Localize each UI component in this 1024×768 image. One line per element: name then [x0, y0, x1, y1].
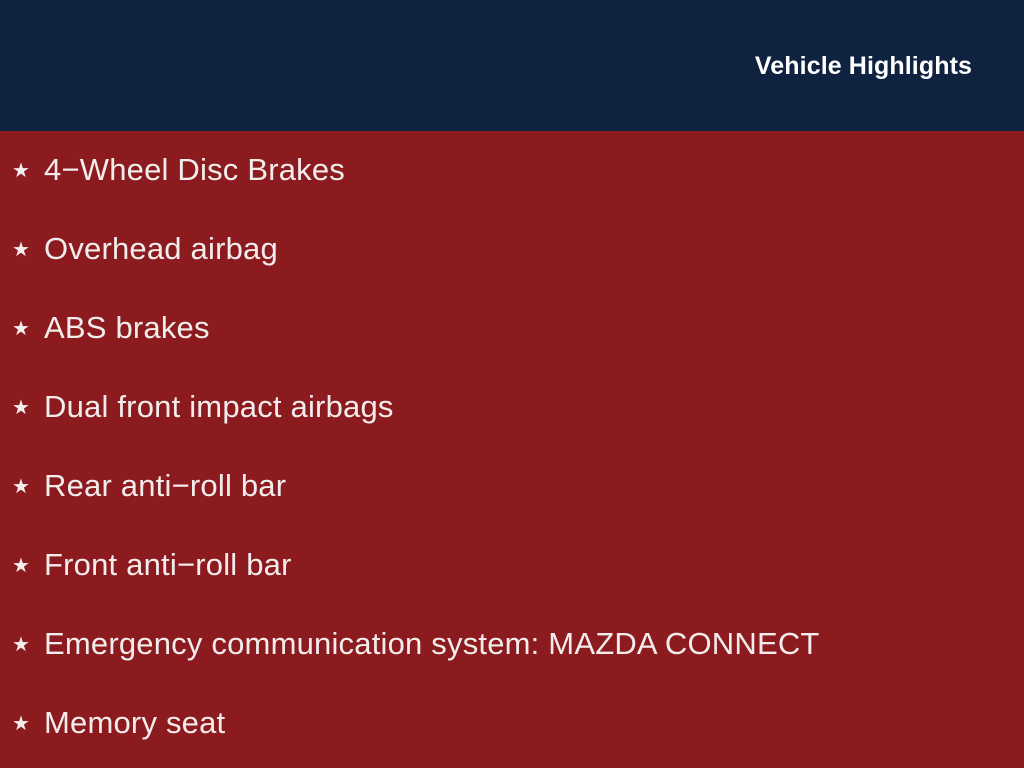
highlight-label: Overhead airbag [44, 232, 278, 266]
star-bullet-icon: ★ [12, 714, 44, 734]
slide-body: ★ 4−Wheel Disc Brakes ★ Overhead airbag … [0, 131, 1024, 768]
list-item: ★ ABS brakes [0, 289, 1024, 368]
list-item: ★ Overhead airbag [0, 210, 1024, 289]
highlight-label: Dual front impact airbags [44, 390, 394, 424]
list-item: ★ Rear anti−roll bar [0, 447, 1024, 526]
vehicle-highlights-slide: Vehicle Highlights ★ 4−Wheel Disc Brakes… [0, 0, 1024, 768]
highlight-label: ABS brakes [44, 311, 210, 345]
list-item: ★ Dual front impact airbags [0, 368, 1024, 447]
page-title: Vehicle Highlights [755, 54, 972, 79]
vehicle-highlights-list: ★ 4−Wheel Disc Brakes ★ Overhead airbag … [0, 131, 1024, 763]
star-bullet-icon: ★ [12, 161, 44, 181]
highlight-label: Memory seat [44, 706, 225, 740]
highlight-label: Emergency communication system: MAZDA CO… [44, 627, 820, 661]
list-item: ★ Emergency communication system: MAZDA … [0, 605, 1024, 684]
list-item: ★ Front anti−roll bar [0, 526, 1024, 605]
star-bullet-icon: ★ [12, 319, 44, 339]
list-item: ★ 4−Wheel Disc Brakes [0, 131, 1024, 210]
highlight-label: 4−Wheel Disc Brakes [44, 153, 345, 187]
highlight-label: Rear anti−roll bar [44, 469, 286, 503]
star-bullet-icon: ★ [12, 477, 44, 497]
highlight-label: Front anti−roll bar [44, 548, 292, 582]
star-bullet-icon: ★ [12, 240, 44, 260]
star-bullet-icon: ★ [12, 398, 44, 418]
list-item: ★ Memory seat [0, 684, 1024, 763]
slide-header-band: Vehicle Highlights [0, 0, 1024, 131]
star-bullet-icon: ★ [12, 556, 44, 576]
star-bullet-icon: ★ [12, 635, 44, 655]
